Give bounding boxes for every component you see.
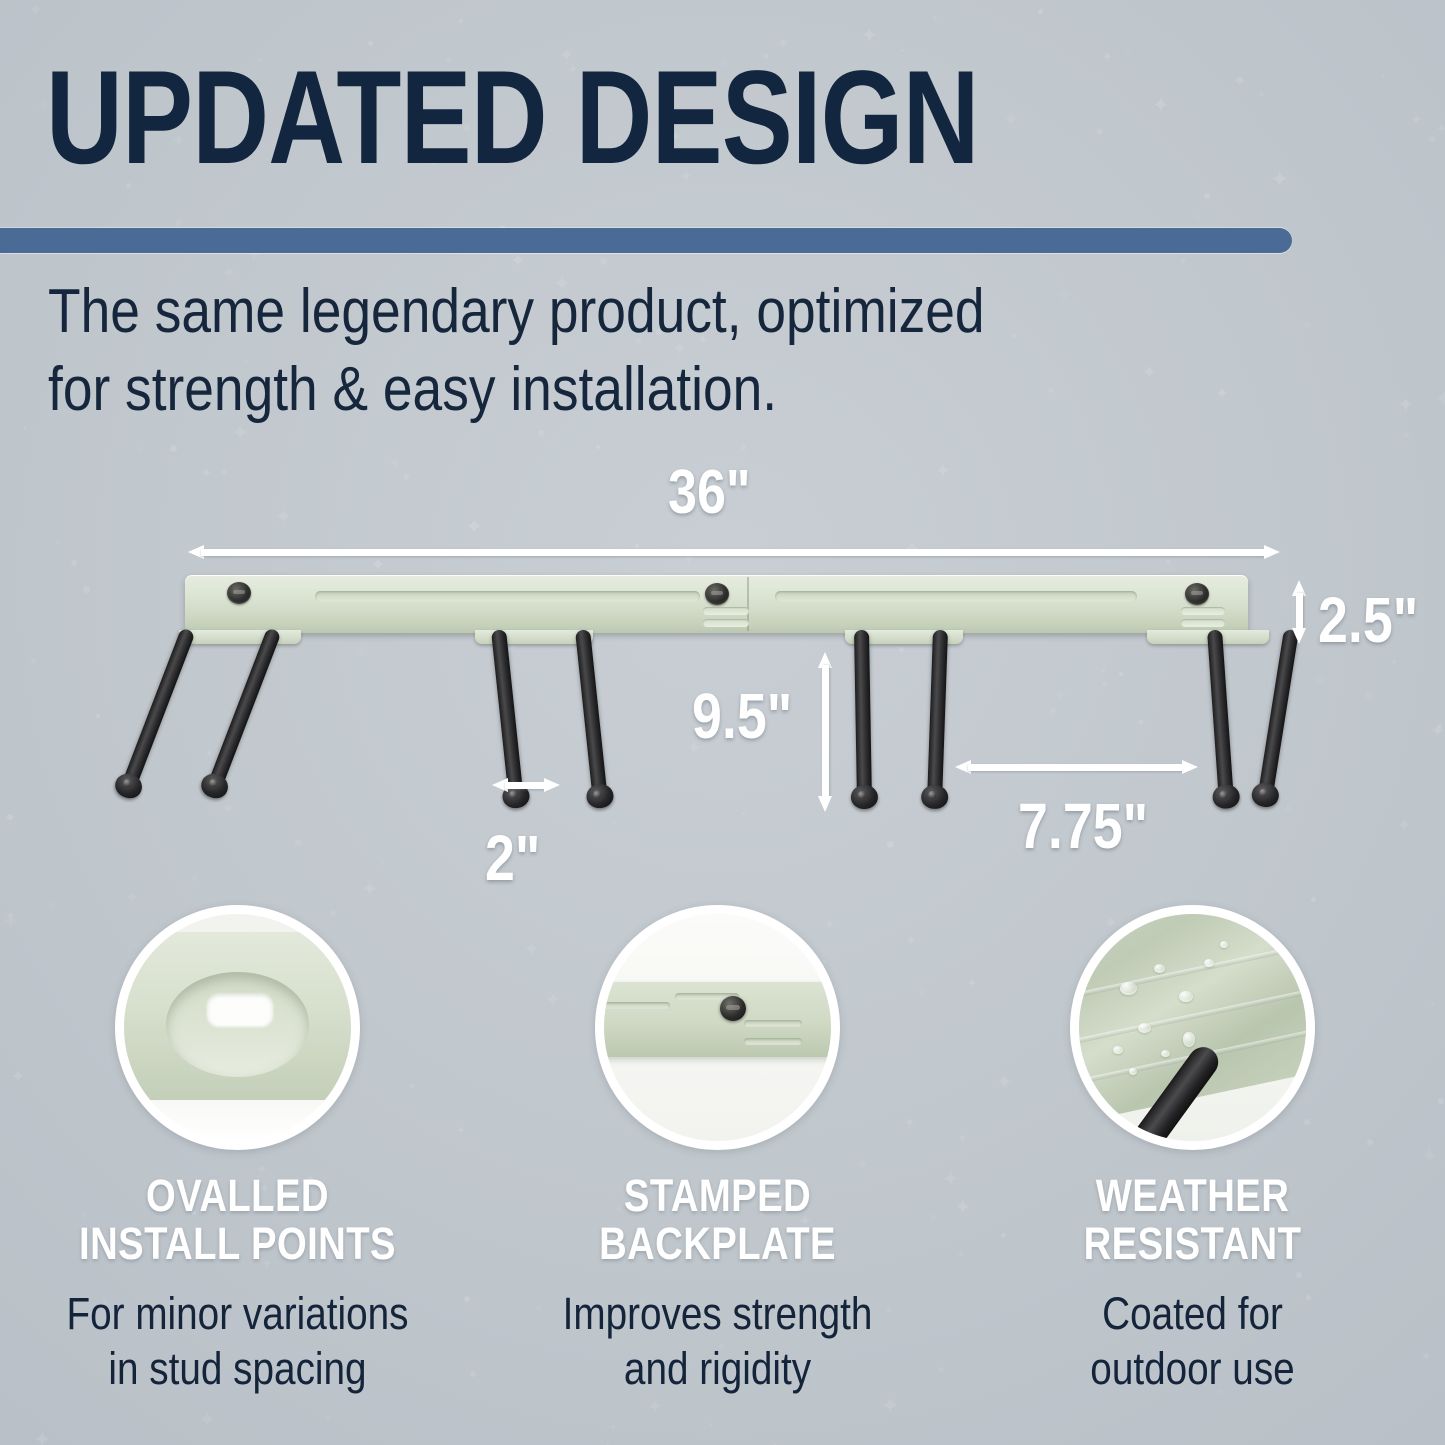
- arrow-head-right: [1264, 545, 1280, 559]
- infographic-canvas: ✦✦✦✦✦✦✦✦✦✦✦✦✦✦✦✦✦✦✦✦✦✦✦✦✦✦✦✦✦✦✦✦✦✦✦✦✦✦✦✦…: [0, 0, 1445, 1445]
- weather-resistant-photo: [1070, 905, 1315, 1150]
- arm-end-cap: [851, 785, 878, 809]
- rack-arm-5: [854, 630, 872, 798]
- feature-description: For minor variations in stud spacing: [42, 1287, 433, 1397]
- rack-arm-3: [491, 629, 523, 798]
- dimension-arrow-arm-spacing: [955, 760, 1198, 774]
- rack-arm-4: [575, 629, 607, 798]
- page-subtitle: The same legendary product, optimized fo…: [48, 273, 1200, 429]
- subtitle-line-2: for strength & easy installation.: [48, 351, 1200, 429]
- arrow-head-bottom: [1292, 628, 1306, 644]
- backplate-rib-1: [703, 607, 749, 615]
- dimension-label-arm-spacing: 7.75": [1018, 794, 1148, 858]
- water-droplet: [1113, 1046, 1123, 1054]
- feature-title-line-1: WEATHER: [999, 1172, 1386, 1220]
- arm-end-cap: [921, 784, 949, 809]
- backplate-bar: [595, 982, 840, 1057]
- backplate-groove-left: [315, 591, 700, 602]
- feature-desc-line-2: in stud spacing: [42, 1342, 433, 1397]
- backplate-rib-2: [703, 619, 749, 627]
- arm-mount-1: [179, 630, 301, 644]
- dimension-label-width: 36": [668, 462, 751, 524]
- feature-title: WEATHER RESISTANT: [999, 1172, 1386, 1267]
- arrow-shaft: [822, 665, 829, 799]
- ovalled-install-point-photo: [115, 905, 360, 1150]
- screw-left: [227, 582, 251, 604]
- feature-stamped-backplate: STAMPED BACKPLATE Improves strength and …: [490, 905, 945, 1397]
- backplate-screw: [720, 996, 746, 1021]
- title-divider-bar: [0, 228, 1292, 253]
- feature-description: Coated for outdoor use: [997, 1287, 1388, 1397]
- screw-center: [705, 583, 729, 605]
- feature-title-line-2: RESISTANT: [999, 1220, 1386, 1268]
- arrow-head-bottom: [818, 796, 832, 812]
- feature-desc-line-2: outdoor use: [997, 1342, 1388, 1397]
- dimension-arrow-width: [188, 545, 1280, 559]
- feature-desc-line-2: and rigidity: [522, 1342, 913, 1397]
- page-title: UPDATED DESIGN: [46, 52, 979, 185]
- feature-desc-line-1: Coated for: [997, 1287, 1388, 1342]
- arm-end-cap: [112, 770, 146, 802]
- dimension-label-arm-gap: 2": [485, 826, 540, 890]
- arm-end-cap: [198, 770, 232, 802]
- dimension-arrow-height: [1292, 580, 1306, 644]
- arrow-shaft: [1296, 593, 1303, 631]
- feature-title-line-2: BACKPLATE: [524, 1220, 911, 1268]
- stamp-rib-4: [744, 1038, 802, 1045]
- feature-title-line-2: INSTALL POINTS: [44, 1220, 431, 1268]
- feature-weather-resistant: WEATHER RESISTANT Coated for outdoor use: [965, 905, 1420, 1397]
- backplate-rib-3: [1181, 607, 1225, 615]
- rack-arm-2: [207, 627, 281, 789]
- dimension-arrow-arm-length: [818, 652, 832, 812]
- stamped-backplate-photo: [595, 905, 840, 1150]
- arrow-head-right: [544, 778, 560, 792]
- arm-end-cap: [1250, 781, 1280, 809]
- dimension-label-arm-length: 9.5": [692, 684, 792, 748]
- feature-title-line-1: OVALLED: [44, 1172, 431, 1220]
- rack-arm-6: [927, 630, 948, 798]
- feature-description: Improves strength and rigidity: [522, 1287, 913, 1397]
- arm-end-cap: [1212, 784, 1241, 810]
- feature-ovalled-install-points: OVALLED INSTALL POINTS For minor variati…: [10, 905, 465, 1397]
- water-droplet: [1138, 1023, 1151, 1033]
- screw-right: [1185, 583, 1209, 605]
- water-droplet: [1120, 982, 1137, 995]
- rack-backplate: [185, 575, 1248, 633]
- arm-end-cap: [585, 783, 614, 810]
- rack-arm-8: [1258, 629, 1299, 797]
- water-droplet: [1154, 964, 1165, 973]
- arrow-shaft: [505, 782, 547, 789]
- subtitle-line-1: The same legendary product, optimized: [48, 273, 1200, 351]
- backplate-groove-right: [775, 591, 1137, 602]
- plate-surface: [115, 932, 360, 1100]
- feature-desc-line-1: Improves strength: [522, 1287, 913, 1342]
- stamp-rib-3: [744, 1020, 802, 1027]
- stamp-rib-1: [602, 1002, 670, 1009]
- feature-title: STAMPED BACKPLATE: [524, 1172, 911, 1267]
- water-droplet: [1179, 991, 1193, 1002]
- arrow-shaft: [968, 764, 1185, 771]
- feature-desc-line-1: For minor variations: [42, 1287, 433, 1342]
- dimension-arrow-arm-gap: [492, 778, 560, 792]
- water-droplet: [1161, 1050, 1170, 1057]
- water-droplet: [1220, 941, 1228, 948]
- arrow-head-right: [1182, 760, 1198, 774]
- oval-slot-hole: [207, 993, 273, 1027]
- product-diagram: 36": [0, 430, 1445, 910]
- feature-title: OVALLED INSTALL POINTS: [44, 1172, 431, 1267]
- rack-arm-7: [1207, 629, 1234, 798]
- feature-title-line-1: STAMPED: [524, 1172, 911, 1220]
- backplate-rib-4: [1181, 619, 1225, 627]
- dimension-label-height: 2.5": [1318, 588, 1418, 652]
- rack-arm-1: [121, 627, 195, 789]
- feature-list: OVALLED INSTALL POINTS For minor variati…: [0, 905, 1445, 1445]
- arrow-shaft: [201, 549, 1267, 556]
